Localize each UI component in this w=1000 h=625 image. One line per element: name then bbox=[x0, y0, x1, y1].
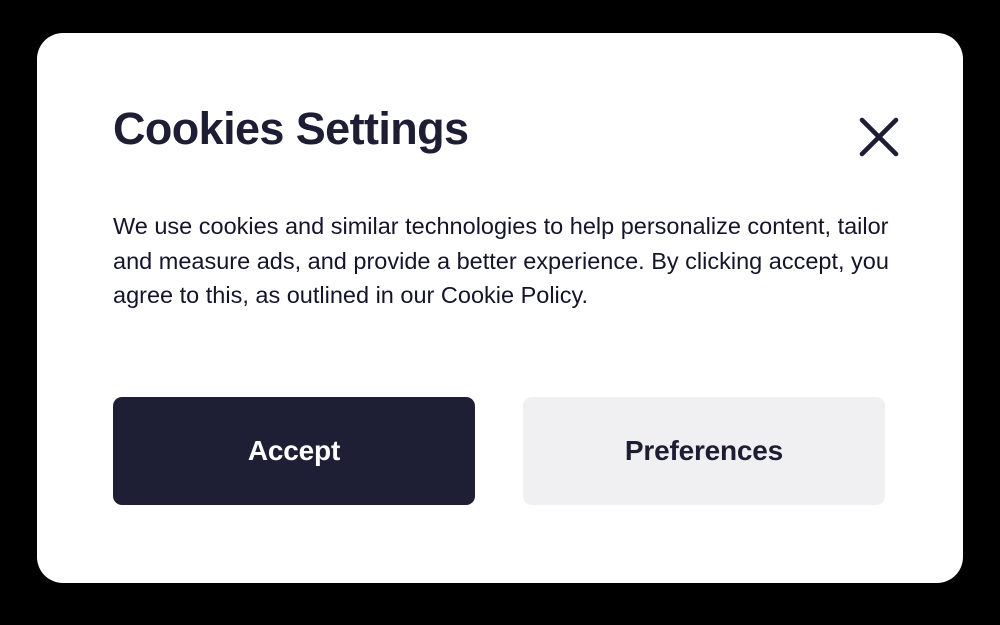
preferences-button[interactable]: Preferences bbox=[523, 397, 885, 505]
dialog-actions: Accept Preferences bbox=[113, 397, 885, 505]
close-icon bbox=[857, 115, 901, 159]
dialog-description: We use cookies and similar technologies … bbox=[113, 209, 897, 313]
page-title: Cookies Settings bbox=[113, 106, 468, 151]
accept-button[interactable]: Accept bbox=[113, 397, 475, 505]
dialog-header: Cookies Settings bbox=[37, 33, 963, 183]
close-button[interactable] bbox=[853, 111, 905, 163]
cookies-settings-dialog: Cookies Settings We use cookies and simi… bbox=[37, 33, 963, 583]
